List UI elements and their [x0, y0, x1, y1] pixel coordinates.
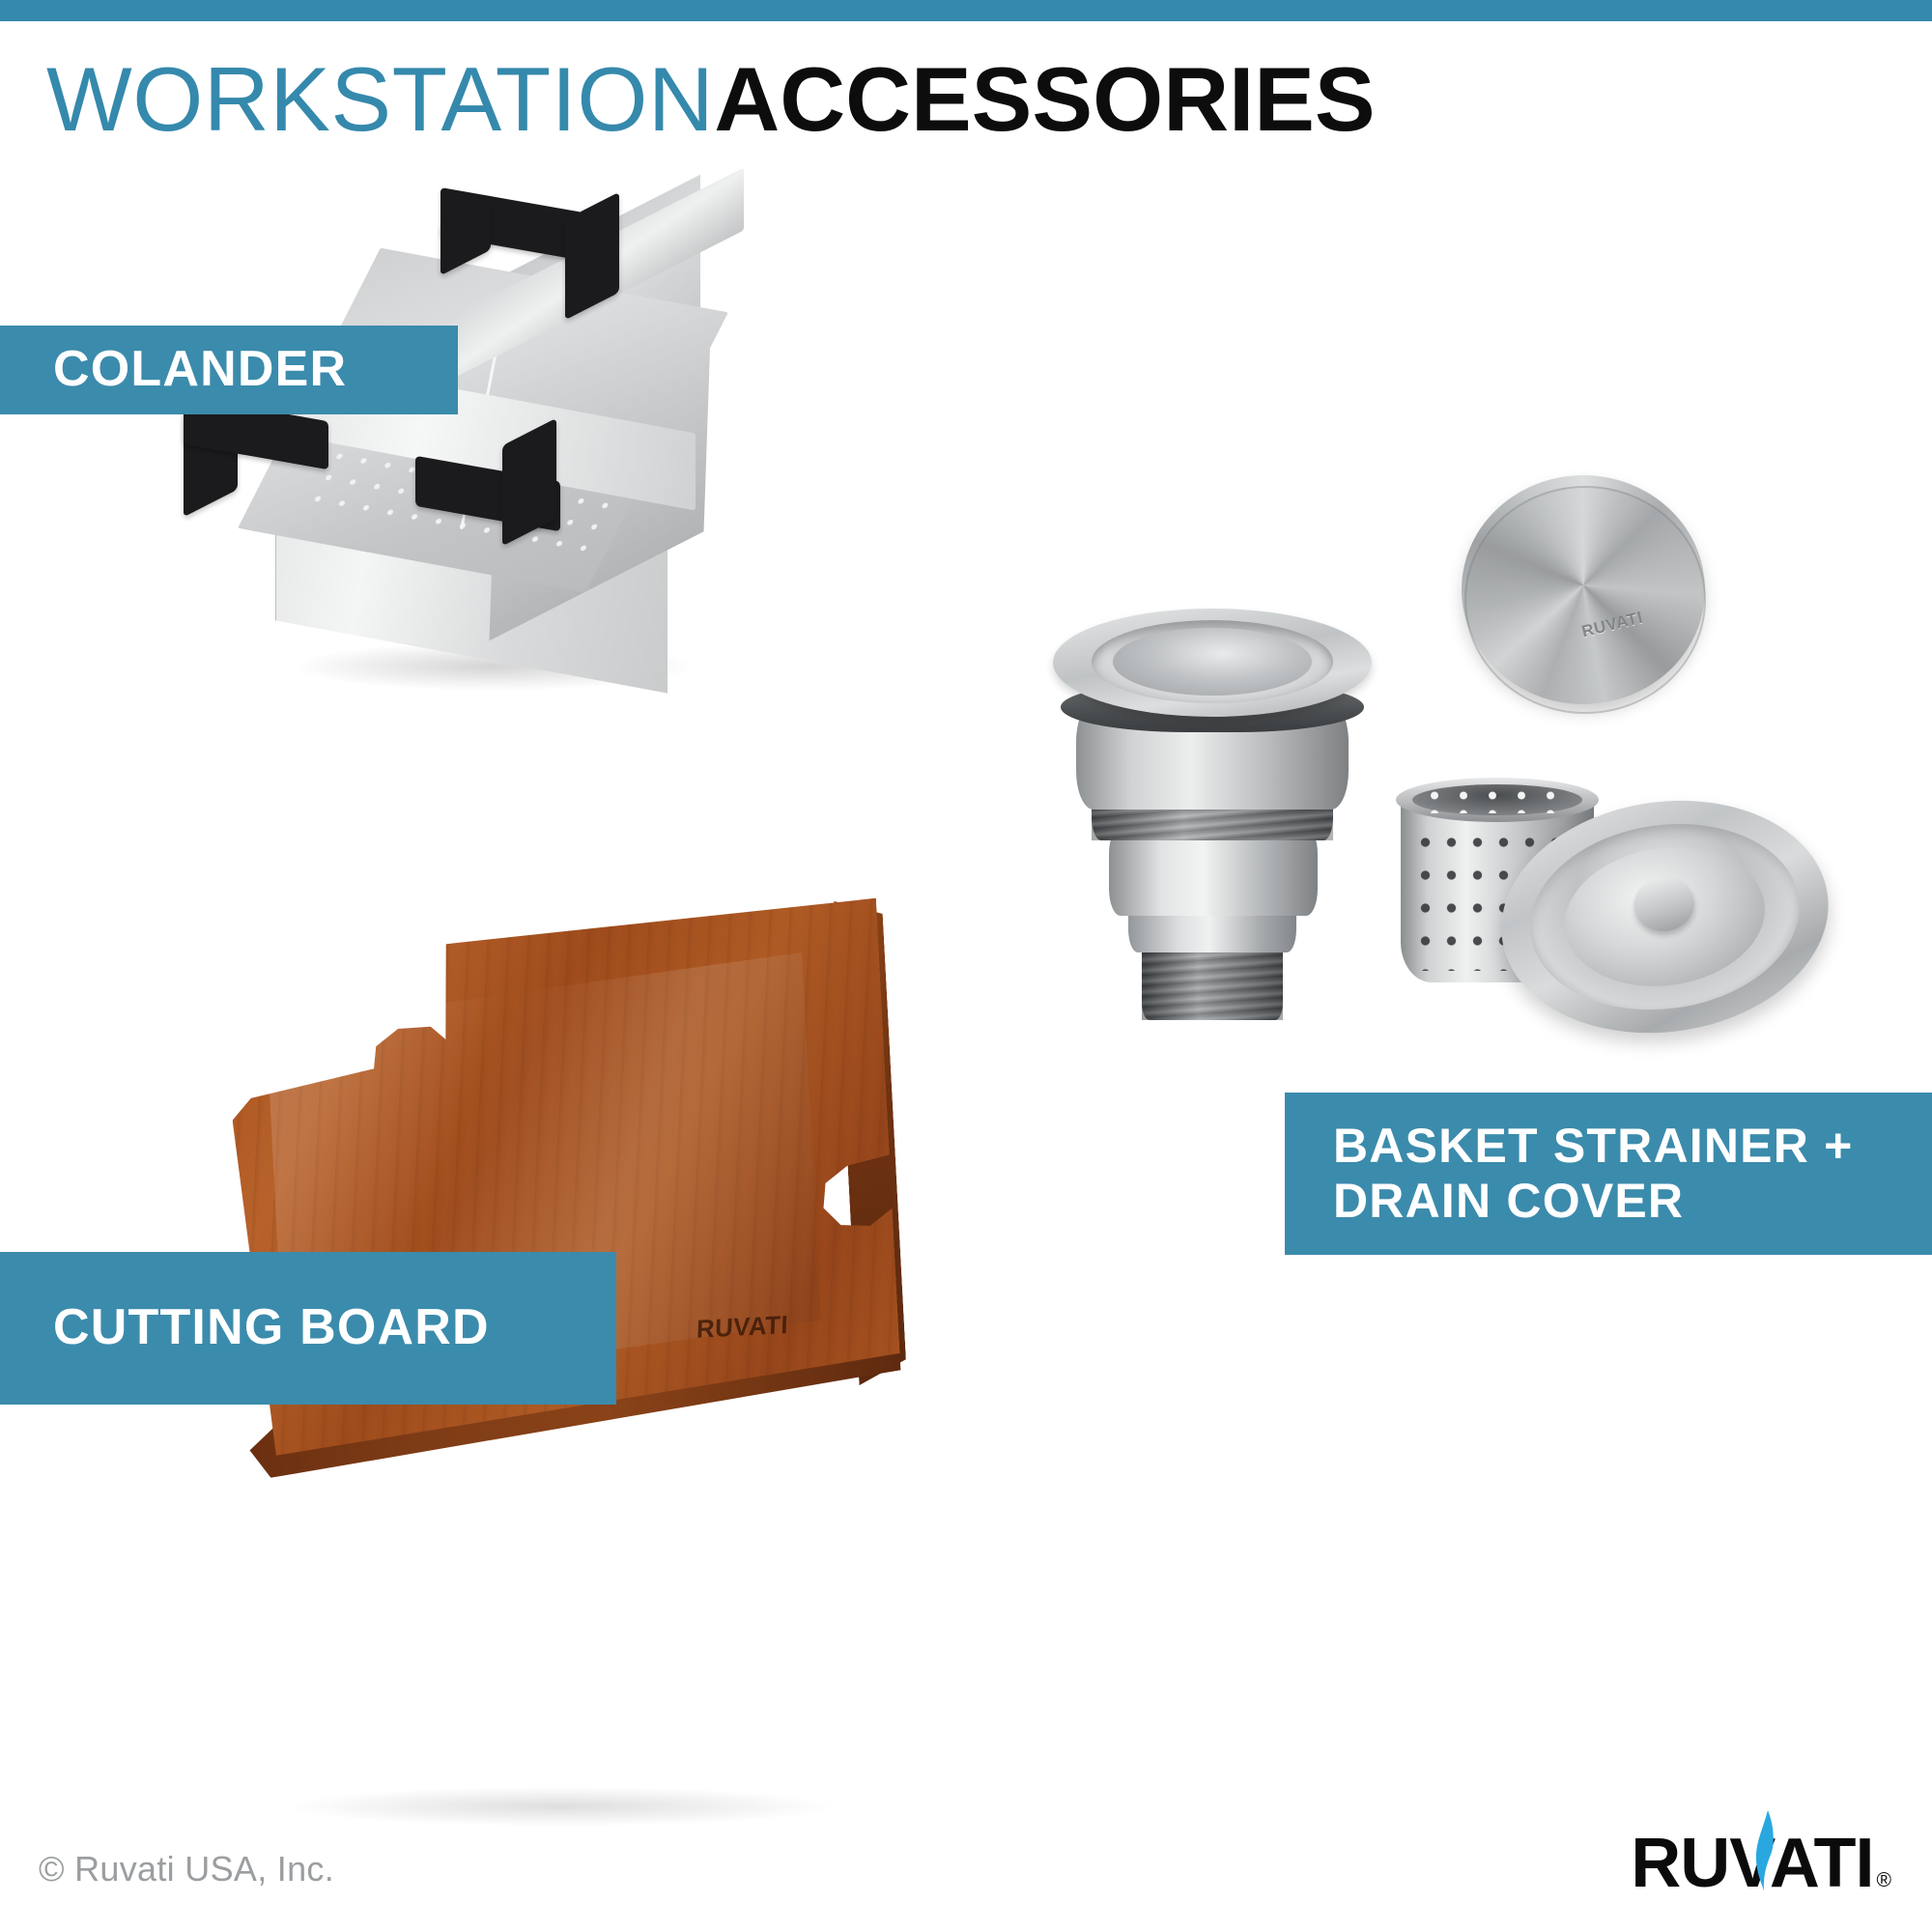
ruvati-logo-wordmark: RUVATI: [1631, 1824, 1873, 1903]
banner-cutting-board-label: CUTTING BOARD: [53, 1299, 490, 1356]
banner-colander: COLANDER: [0, 326, 458, 414]
strainer-body-product-image: [1053, 609, 1372, 1024]
strainer-lid-product-image: [1487, 781, 1847, 1075]
top-accent-bar: [0, 0, 1932, 21]
banner-colander-label: COLANDER: [53, 341, 347, 398]
banner-cutting-board: CUTTING BOARD: [0, 1252, 616, 1405]
cutting-board-shadow: [290, 1787, 831, 1826]
cutting-board-brand-mark: RUVATI: [696, 1310, 788, 1345]
title-bold-part: ACCESSORIES: [714, 48, 1375, 150]
ruvati-flame-icon: [1752, 1810, 1777, 1891]
strainer-bowl-inner: [1113, 628, 1312, 696]
colander-product-image: [174, 188, 792, 691]
drain-cover-product-image: RUVATI: [1462, 475, 1705, 717]
copyright-text: © Ruvati USA, Inc.: [39, 1849, 334, 1889]
basket-rim-perforations: [1420, 786, 1575, 813]
ruvati-logo: RUVATI ®: [1631, 1824, 1891, 1891]
title-light-part: WORKSTATION: [46, 48, 714, 150]
banner-basket-strainer-label: BASKET STRAINER + DRAIN COVER: [1333, 1119, 1854, 1229]
drain-cover-edge: [1464, 486, 1706, 714]
banner-basket-strainer: BASKET STRAINER + DRAIN COVER: [1285, 1093, 1932, 1255]
registered-trademark-icon: ®: [1877, 1869, 1891, 1892]
infographic-page: WORKSTATIONACCESSORIES COLANDER RUVATI: [0, 0, 1932, 1932]
cutting-board-product-image: RUVATI: [225, 878, 945, 1556]
page-title: WORKSTATIONACCESSORIES: [46, 46, 1592, 153]
